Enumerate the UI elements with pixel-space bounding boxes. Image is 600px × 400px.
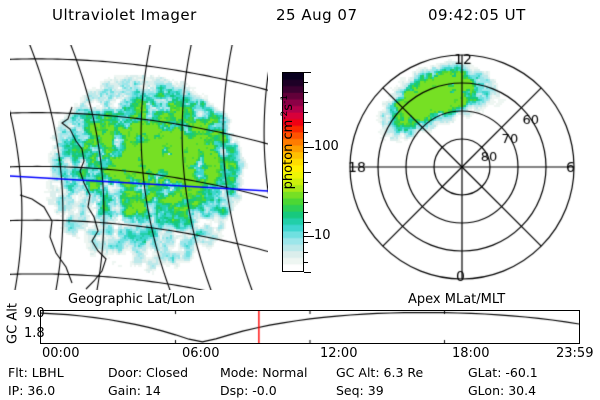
colorbar-ticks xyxy=(304,72,312,272)
status-key: Seq: xyxy=(336,383,364,398)
status-field-glon: GLon: 30.4 xyxy=(468,382,588,400)
observation-date: 25 Aug 07 xyxy=(276,6,358,24)
orbit-xtick-0: 00:00 xyxy=(42,346,79,361)
colorbar-unit-exp2: -1 xyxy=(280,95,290,104)
colorbar-unit-exp1: -2 xyxy=(280,111,290,120)
orbit-ytick-1: 1.8 xyxy=(24,326,45,341)
orbit-y-axis-label-text: GC Alt xyxy=(6,301,21,347)
status-field-glat: GLat: -60.1 xyxy=(468,364,588,382)
status-value: -0.0 xyxy=(252,383,276,398)
colorbar-axis-label: photon cm-2s-1 xyxy=(280,67,296,217)
status-value: Closed xyxy=(146,365,188,380)
status-key: Gain: xyxy=(108,383,141,398)
status-field-flt: Flt: LBHL xyxy=(0,364,108,382)
status-key: GLon: xyxy=(468,383,504,398)
status-field-mode: Mode: Normal xyxy=(220,364,336,382)
status-key: IP: xyxy=(8,383,23,398)
geographic-panel-title: Geographic Lat/Lon xyxy=(68,292,195,307)
status-value: 36.0 xyxy=(27,383,55,398)
orbit-altitude-plot xyxy=(40,310,580,344)
status-field-door: Door: Closed xyxy=(108,364,220,382)
instrument-title: Ultraviolet Imager xyxy=(52,6,197,24)
polar-panel-title: Apex MLat/MLT xyxy=(408,292,505,307)
status-field-seq: Seq: 39 xyxy=(336,382,468,400)
polar-aurora-dial xyxy=(340,45,590,293)
colorbar-tick-label-10: 10 xyxy=(314,228,331,243)
status-value: 6.3 Re xyxy=(384,365,424,380)
colorbar-unit-mid: s xyxy=(281,104,296,111)
status-value: 39 xyxy=(368,383,384,398)
orbit-y-axis-label: GC Alt xyxy=(2,300,24,348)
orbit-ytick-0: 9.0 xyxy=(24,306,45,321)
status-value: 14 xyxy=(145,383,161,398)
orbit-xtick-3: 18:00 xyxy=(452,346,489,361)
colorbar-tick-label-100: 100 xyxy=(314,139,339,154)
status-key: Dsp: xyxy=(220,383,248,398)
status-row: IP: 36.0Gain: 14Dsp: -0.0Seq: 39GLon: 30… xyxy=(0,382,588,400)
status-field-gc-alt: GC Alt: 6.3 Re xyxy=(336,364,468,382)
colorbar: photon cm-2s-1 10010 xyxy=(265,60,345,290)
uvi-summary-plot: Ultraviolet Imager 25 Aug 07 09:42:05 UT… xyxy=(0,0,600,400)
status-key: GLat: xyxy=(468,365,501,380)
colorbar-unit-main: photon cm xyxy=(281,120,296,190)
status-key: GC Alt: xyxy=(336,365,380,380)
orbit-xtick-1: 06:00 xyxy=(182,346,219,361)
status-field-dsp: Dsp: -0.0 xyxy=(220,382,336,400)
polar-mlat-mlt-panel xyxy=(340,45,590,293)
status-table: Flt: LBHLDoor: ClosedMode: NormalGC Alt:… xyxy=(0,364,588,400)
status-field-gain: Gain: 14 xyxy=(108,382,220,400)
orbit-xtick-4: 23:59 xyxy=(556,346,593,361)
orbit-altitude-curve xyxy=(41,311,579,343)
status-value: -60.1 xyxy=(505,365,537,380)
status-key: Door: xyxy=(108,365,142,380)
status-panel: Flt: LBHLDoor: ClosedMode: NormalGC Alt:… xyxy=(0,364,600,400)
status-key: Mode: xyxy=(220,365,258,380)
geographic-image-panel xyxy=(10,45,268,290)
geographic-aurora-image xyxy=(10,45,268,290)
status-value: 30.4 xyxy=(508,383,536,398)
observation-time: 09:42:05 UT xyxy=(428,6,526,24)
status-row: Flt: LBHLDoor: ClosedMode: NormalGC Alt:… xyxy=(0,364,588,382)
status-value: LBHL xyxy=(32,365,64,380)
orbit-xtick-2: 12:00 xyxy=(320,346,357,361)
status-key: Flt: xyxy=(8,365,28,380)
status-value: Normal xyxy=(262,365,307,380)
status-field-ip: IP: 36.0 xyxy=(0,382,108,400)
